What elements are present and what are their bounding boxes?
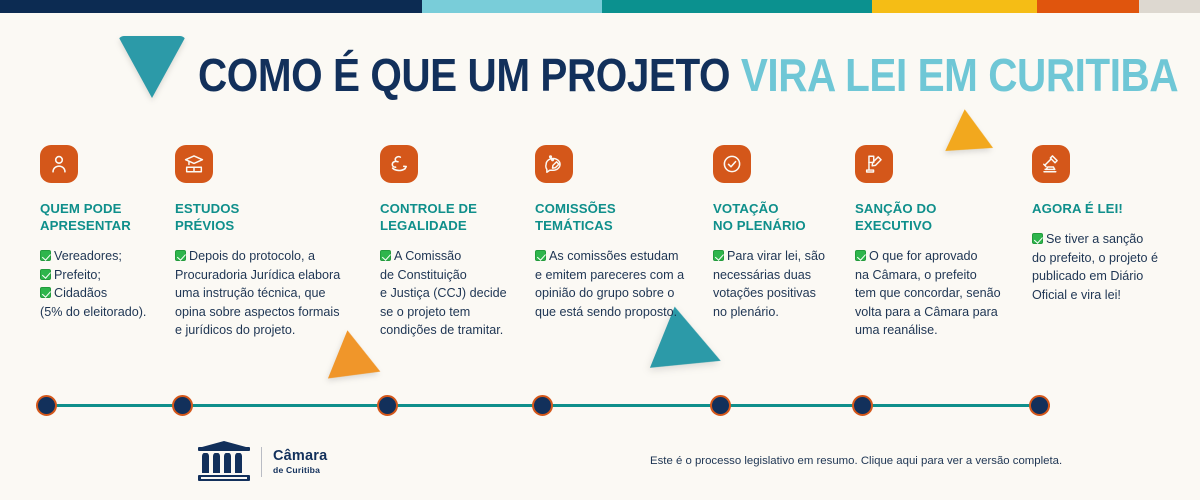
check-icon xyxy=(1032,233,1043,244)
top-bar-segment-light-teal xyxy=(422,0,602,13)
step-body-line: uma reanálise. xyxy=(855,321,1015,340)
step-body-line: O que for aprovado xyxy=(855,247,1015,266)
step-body-line: (5% do eleitorado). xyxy=(40,303,170,322)
camara-logo[interactable]: Câmara de Curitiba xyxy=(196,441,327,483)
step-body-line: opinião do grupo sobre o xyxy=(535,284,695,303)
timeline-dot-5 xyxy=(710,395,731,416)
check-icon xyxy=(40,287,51,298)
check-icon xyxy=(380,250,391,261)
step-body-text: condições de tramitar. xyxy=(380,323,503,337)
top-bar-segment-yellow xyxy=(872,0,1037,13)
step-3: CONTROLE DE LEGALIDADEA Comissãode Const… xyxy=(380,145,525,340)
step-body-text: Se tiver a sanção xyxy=(1046,232,1143,246)
timeline-dot-7 xyxy=(1029,395,1050,416)
step-body-line: Para virar lei, são xyxy=(713,247,838,266)
step-body-line: no plenário. xyxy=(713,303,838,322)
step-body-line: As comissões estudam xyxy=(535,247,695,266)
step-body-line: Depois do protocolo, a xyxy=(175,247,360,266)
step-title: AGORA É LEI! xyxy=(1032,200,1182,217)
step-body-line: Procuradoria Jurídica elabora xyxy=(175,266,360,285)
timeline-dot-1 xyxy=(36,395,57,416)
check-icon xyxy=(175,250,186,261)
step-body-text: Vereadores; xyxy=(54,249,122,263)
step-body: As comissões estudame emitem pareceres c… xyxy=(535,247,695,321)
step-body-text: opina sobre aspectos formais xyxy=(175,305,340,319)
top-bar-segment-navy xyxy=(0,0,422,13)
step-body: Depois do protocolo, aProcuradoria Juríd… xyxy=(175,247,360,340)
camara-building-icon xyxy=(196,441,252,483)
page-title: COMO É QUE UM PROJETO VIRA LEI EM CURITI… xyxy=(198,52,1178,98)
step-body-text: Depois do protocolo, a xyxy=(189,249,315,263)
step-body-text: A Comissão xyxy=(394,249,461,263)
step-body-text: (5% do eleitorado). xyxy=(40,305,146,319)
step-body-text: uma reanálise. xyxy=(855,323,938,337)
step-body-text: que está sendo proposto. xyxy=(535,305,677,319)
step-body-text: se o projeto tem xyxy=(380,305,470,319)
step-body-text: Cidadãos xyxy=(54,286,107,300)
step-body-text: necessárias duas xyxy=(713,268,811,282)
step-body-line: e emitem pareceres com a xyxy=(535,266,695,285)
step-body-text: do prefeito, o projeto é xyxy=(1032,251,1158,265)
step-body-line: Vereadores; xyxy=(40,247,170,266)
step-2: ESTUDOS PRÉVIOSDepois do protocolo, aPro… xyxy=(175,145,360,340)
logo-line2: de Curitiba xyxy=(273,466,327,475)
step-body: Para virar lei, sãonecessárias duasvotaç… xyxy=(713,247,838,321)
infographic-page: COMO É QUE UM PROJETO VIRA LEI EM CURITI… xyxy=(0,0,1200,500)
check-circle-icon xyxy=(713,145,751,183)
step-body-line: necessárias duas xyxy=(713,266,838,285)
step-body-line: se o projeto tem xyxy=(380,303,525,322)
step-body: Se tiver a sançãodo prefeito, o projeto … xyxy=(1032,230,1182,304)
step-title: ESTUDOS PRÉVIOS xyxy=(175,200,360,234)
step-6: SANÇÃO DO EXECUTIVOO que for aprovadona … xyxy=(855,145,1015,340)
check-icon xyxy=(855,250,866,261)
timeline-dot-6 xyxy=(852,395,873,416)
step-body-line: Prefeito; xyxy=(40,266,170,285)
study-cap-book-icon xyxy=(175,145,213,183)
step-body-line: e jurídicos do projeto. xyxy=(175,321,360,340)
page-title-part2: VIRA LEI EM CURITIBA xyxy=(741,49,1178,101)
steps-container: QUEM PODE APRESENTARVereadores;Prefeito;… xyxy=(0,145,1200,345)
step-body-line: Cidadãos xyxy=(40,284,170,303)
step-title: QUEM PODE APRESENTAR xyxy=(40,200,170,234)
step-body-text: Oficial e vira lei! xyxy=(1032,288,1121,302)
step-1: QUEM PODE APRESENTARVereadores;Prefeito;… xyxy=(40,145,170,321)
top-bar-segment-light-gray xyxy=(1139,0,1200,13)
step-title: COMISSÕES TEMÁTICAS xyxy=(535,200,695,234)
timeline-dot-4 xyxy=(532,395,553,416)
step-body-text: O que for aprovado xyxy=(869,249,978,263)
step-body-text: Para virar lei, são xyxy=(727,249,825,263)
step-body: O que for aprovadona Câmara, o prefeitot… xyxy=(855,247,1015,340)
check-icon xyxy=(40,269,51,280)
teal-triangle-decoration xyxy=(118,36,186,98)
step-body-line: e Justiça (CCJ) decide xyxy=(380,284,525,303)
logo-wordmark: Câmara de Curitiba xyxy=(273,449,327,474)
step-body-line: publicado em Diário xyxy=(1032,267,1182,286)
footer-note[interactable]: Este é o processo legislativo em resumo.… xyxy=(650,455,1062,467)
step-7: AGORA É LEI!Se tiver a sançãodo prefeito… xyxy=(1032,145,1182,304)
step-body: A Comissãode Constituiçãoe Justiça (CCJ)… xyxy=(380,247,525,340)
step-body-line: Se tiver a sanção xyxy=(1032,230,1182,249)
check-icon xyxy=(535,250,546,261)
step-body-text: e jurídicos do projeto. xyxy=(175,323,295,337)
step-5: VOTAÇÃO NO PLENÁRIOPara virar lei, sãone… xyxy=(713,145,838,321)
step-body-text: Procuradoria Jurídica elabora xyxy=(175,268,340,282)
step-body-line: que está sendo proposto. xyxy=(535,303,695,322)
step-body-text: tem que concordar, senão xyxy=(855,286,1001,300)
step-body-text: Prefeito; xyxy=(54,268,101,282)
timeline-dot-2 xyxy=(172,395,193,416)
step-body-text: publicado em Diário xyxy=(1032,269,1143,283)
step-title: CONTROLE DE LEGALIDADE xyxy=(380,200,525,234)
step-body-text: As comissões estudam xyxy=(549,249,679,263)
step-body-text: votações positivas xyxy=(713,286,816,300)
step-title: SANÇÃO DO EXECUTIVO xyxy=(855,200,1015,234)
step-4: COMISSÕES TEMÁTICASAs comissões estudame… xyxy=(535,145,695,321)
step-body-line: votações positivas xyxy=(713,284,838,303)
step-body-text: na Câmara, o prefeito xyxy=(855,268,977,282)
step-body-line: do prefeito, o projeto é xyxy=(1032,249,1182,268)
step-body-line: condições de tramitar. xyxy=(380,321,525,340)
step-body-text: no plenário. xyxy=(713,305,779,319)
step-body-line: uma instrução técnica, que xyxy=(175,284,360,303)
step-title: VOTAÇÃO NO PLENÁRIO xyxy=(713,200,838,234)
step-body-line: tem que concordar, senão xyxy=(855,284,1015,303)
step-body-text: de Constituição xyxy=(380,268,467,282)
balance-hand-icon xyxy=(380,145,418,183)
step-body-text: opinião do grupo sobre o xyxy=(535,286,674,300)
top-bar-segment-teal xyxy=(602,0,872,13)
step-body-line: A Comissão xyxy=(380,247,525,266)
step-body-line: na Câmara, o prefeito xyxy=(855,266,1015,285)
step-body-line: Oficial e vira lei! xyxy=(1032,286,1182,305)
step-body-line: de Constituição xyxy=(380,266,525,285)
check-icon xyxy=(713,250,724,261)
sign-document-icon xyxy=(855,145,893,183)
check-icon xyxy=(40,250,51,261)
timeline-dot-3 xyxy=(377,395,398,416)
step-body: Vereadores;Prefeito;Cidadãos(5% do eleit… xyxy=(40,247,170,321)
logo-divider xyxy=(261,447,262,477)
person-icon xyxy=(40,145,78,183)
top-bar-segment-orange xyxy=(1037,0,1139,13)
comment-pencil-icon xyxy=(535,145,573,183)
step-body-text: e Justiça (CCJ) decide xyxy=(380,286,507,300)
top-color-bar xyxy=(0,0,1200,13)
step-body-text: uma instrução técnica, que xyxy=(175,286,326,300)
step-body-line: volta para a Câmara para xyxy=(855,303,1015,322)
page-title-part1: COMO É QUE UM PROJETO xyxy=(198,49,730,101)
logo-line1: Câmara xyxy=(273,449,327,464)
step-body-text: e emitem pareceres com a xyxy=(535,268,684,282)
gavel-icon xyxy=(1032,145,1070,183)
step-body-line: opina sobre aspectos formais xyxy=(175,303,360,322)
step-body-text: volta para a Câmara para xyxy=(855,305,998,319)
timeline xyxy=(0,395,1200,415)
